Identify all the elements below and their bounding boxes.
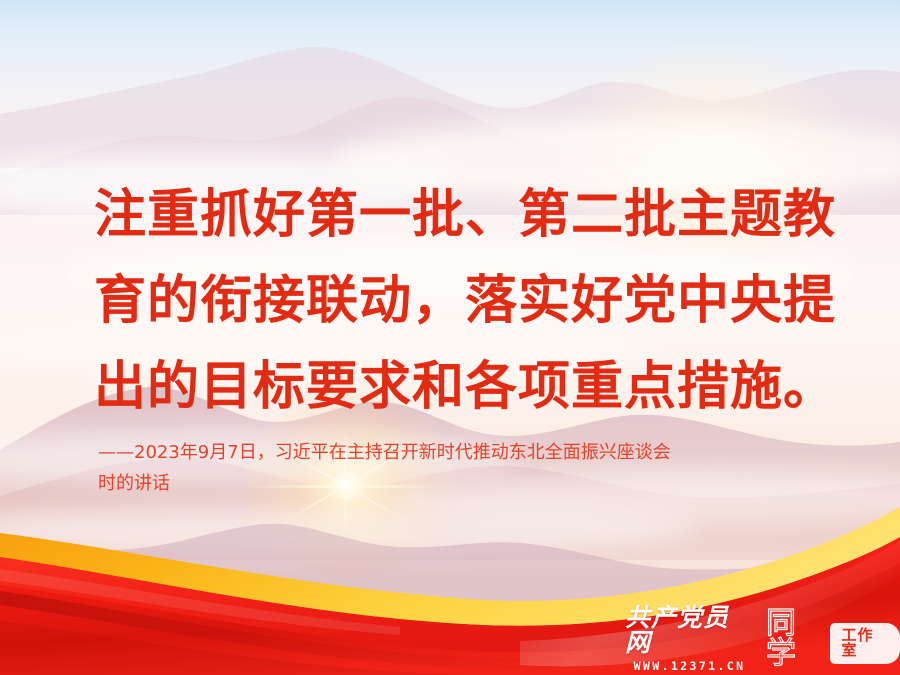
headline-quote: 注重抓好第一批、第二批主题教 育的衔接联动，落实好党中央提 出的目标要求和各项重… <box>94 172 834 430</box>
studio-badge: 工作室 <box>830 623 900 664</box>
headline-line-3: 出的目标要求和各项重点措施。 <box>94 344 834 430</box>
logo-website-url: WWW.12371.CN <box>634 661 746 673</box>
studio-logo-block[interactable]: 同学 工作室 <box>766 609 900 669</box>
headline-line-2: 育的衔接联动，落实好党中央提 <box>94 258 834 344</box>
headline-line-1: 注重抓好第一批、第二批主题教 <box>94 172 834 258</box>
site-logo[interactable]: 共产党员网 WWW.12371.CN 同学 工作室 <box>625 612 900 666</box>
logo-brand-block[interactable]: 共产党员网 WWW.12371.CN <box>625 605 754 673</box>
attribution-line-1: ——2023年9月7日，习近平在主持召开新时代推动东北全面振兴座谈会 <box>98 437 828 468</box>
attribution-source: ——2023年9月7日，习近平在主持召开新时代推动东北全面振兴座谈会 时的讲话 <box>98 437 828 499</box>
attribution-line-2: 时的讲话 <box>98 468 828 499</box>
logo-brand-name: 共产党员网 <box>625 605 754 655</box>
studio-name-text: 同学 <box>766 609 825 669</box>
poster-canvas: 注重抓好第一批、第二批主题教 育的衔接联动，落实好党中央提 出的目标要求和各项重… <box>0 0 900 675</box>
